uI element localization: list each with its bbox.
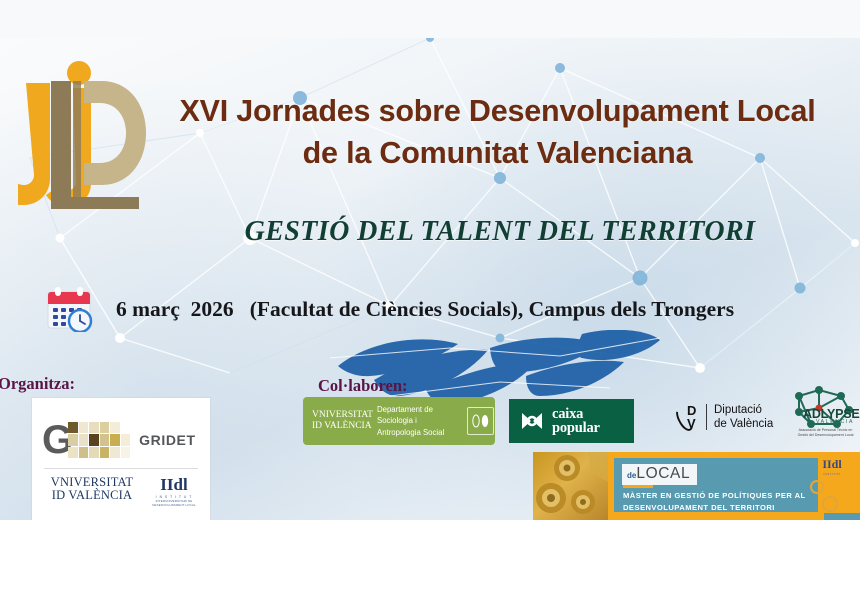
delocal-name: LOCAL — [636, 465, 690, 483]
organitza-label: Organitza: — [0, 374, 75, 394]
dept-text-line-1: Departament de Sociologia i — [377, 404, 465, 427]
delocal-wordmark: de LOCAL — [622, 464, 697, 485]
poster-subtitle: GESTIÓ DEL TALENT DEL TERRITORI — [150, 216, 850, 248]
date-venue-row: 6 març 2026 (Facultat de Ciències Social… — [44, 286, 844, 332]
dept-uv-wordmark: VNIVERSITAT ID VALÈNCIA — [312, 410, 372, 431]
gears-photo — [533, 452, 608, 520]
caixa-line-2: popular — [552, 421, 600, 436]
master-delocal-banner: de LOCAL MÀSTER EN GESTIÓ DE POLÍTIQUES … — [533, 452, 860, 520]
diputacio-wordmark: Diputació de València — [714, 403, 773, 432]
gridet-wordmark: GRIDET — [139, 432, 196, 448]
collaboren-label: Col·laboren: — [318, 376, 408, 396]
uv-seal-glyph — [468, 408, 493, 434]
master-description: MÀSTER EN GESTIÓ DE POLÍTIQUES PER AL DE… — [623, 490, 813, 514]
caixa-line-1: caixa — [552, 407, 600, 422]
adlypse-region: VALÈNCIA — [816, 419, 854, 425]
banner-teal-bar — [824, 513, 860, 520]
title-line-1: XVI Jornades sobre Desenvolupament Local — [179, 94, 815, 128]
banner-gear-outline-icon — [808, 478, 842, 516]
caixa-wordmark: caixa popular — [552, 407, 600, 436]
iidl-sub-line-2: INTERUNIVERSITARI DE DESENVOLUPAMENT LOC… — [144, 500, 204, 508]
iidl-logo: IIdl I N S T I T U T INTERUNIVERSITARI D… — [144, 476, 204, 508]
dept-text-line-2: Antropologia Social — [377, 427, 465, 438]
master-iidl-mark: IIdl — [815, 458, 849, 470]
uv-line-2: ID VALÈNCIA — [46, 489, 138, 502]
poster-canvas: XVI Jornades sobre Desenvolupament Local… — [0, 0, 860, 602]
master-text-line-1: MÀSTER EN GESTIÓ DE POLÍTIQUES PER AL — [623, 490, 813, 502]
master-text-panel: de LOCAL MÀSTER EN GESTIÓ DE POLÍTIQUES … — [614, 458, 818, 512]
adlypse-footer-text: Associació de Personal Tècnic en Gestió … — [791, 428, 860, 439]
caixa-knot-icon — [519, 410, 545, 432]
diputacio-line-2: de València — [714, 417, 773, 431]
organizer-divider — [44, 468, 198, 469]
diputacio-line-1: Diputació — [714, 403, 773, 417]
dv-monogram-icon: D V — [678, 402, 704, 432]
uv-seal-icon — [467, 407, 494, 435]
dept-name-text: Departament de Sociologia i Antropologia… — [377, 404, 465, 438]
caixa-popular-logo: caixa popular — [509, 399, 634, 443]
delocal-prefix: de — [627, 471, 636, 480]
dv-letter-v: V — [687, 417, 696, 430]
bottom-white-area — [0, 520, 860, 602]
master-text-line-2: DESENVOLUPAMENT DEL TERRITORI — [623, 502, 813, 514]
organizer-logo-card: G GRIDET VNIVERSITAT ID VALÈNCIA IIdl I … — [32, 398, 210, 520]
calendar-clock-icon — [44, 286, 102, 332]
master-iidl-logo: IIdl INSTITUT — [815, 458, 849, 476]
departament-sociologia-logo: VNIVERSITAT ID VALÈNCIA Departament de S… — [303, 397, 495, 445]
iidl-mark: IIdl — [144, 476, 204, 493]
gridet-g-letter: G — [42, 423, 71, 457]
adlypse-logo: ADLYPSE VALÈNCIA Associació de Personal … — [789, 386, 860, 444]
adlypse-footer-line-2: Gestió del Desenvolupament Local — [791, 433, 860, 438]
diputacio-valencia-logo: D V Diputació de València — [678, 399, 786, 435]
master-iidl-sub: INSTITUT — [815, 472, 849, 476]
gridet-mosaic-icon — [68, 422, 130, 458]
dept-uv-line-1: VNIVERSITAT — [312, 410, 372, 421]
gears-icon — [533, 452, 608, 520]
master-accent-rule — [623, 485, 653, 488]
gridet-logo: G GRIDET — [42, 418, 202, 462]
title-line-2: de la Comunitat Valenciana — [140, 132, 855, 174]
page-title: XVI Jornades sobre Desenvolupament Local… — [140, 90, 855, 174]
date-venue-text: 6 març 2026 (Facultat de Ciències Social… — [116, 297, 734, 322]
dept-uv-line-2: ID VALÈNCIA — [312, 421, 372, 432]
diputacio-divider — [706, 404, 707, 430]
top-white-band — [0, 0, 860, 38]
universitat-valencia-logo: VNIVERSITAT ID VALÈNCIA — [46, 476, 138, 502]
